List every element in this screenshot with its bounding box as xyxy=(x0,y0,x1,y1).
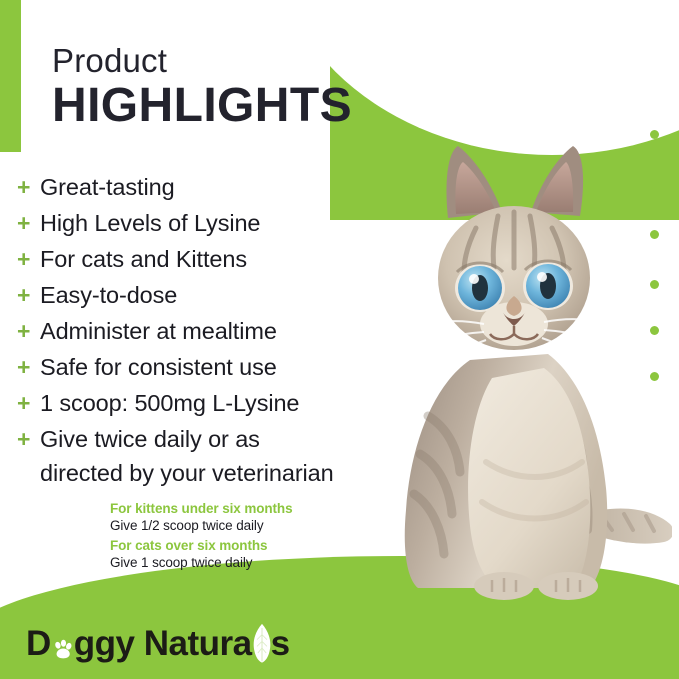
brand-name-part-1: D xyxy=(26,624,51,663)
plus-icon: + xyxy=(12,242,40,276)
plus-icon: + xyxy=(12,206,40,240)
list-item-label: High Levels of Lysine xyxy=(40,206,260,240)
title-kicker: Product xyxy=(52,44,352,79)
brand-logo: Dggy Naturas xyxy=(26,622,290,666)
dosing-instructions: For kittens under six months Give 1/2 sc… xyxy=(110,500,292,574)
paw-print-icon xyxy=(52,639,73,660)
brand-name: Dggy Naturas xyxy=(26,624,290,664)
plus-icon: + xyxy=(12,386,40,420)
plus-icon: + xyxy=(12,422,40,456)
cat-dose-line: Give 1 scoop twice daily xyxy=(110,554,292,572)
plus-icon: + xyxy=(12,278,40,312)
brand-name-part-2: ggy Natura xyxy=(74,624,252,663)
brand-name-part-3: s xyxy=(271,624,290,663)
title-main: HIGHLIGHTS xyxy=(52,81,352,131)
plus-icon: + xyxy=(12,350,40,384)
list-item-label: Safe for consistent use xyxy=(40,350,277,384)
list-item: + Administer at mealtime xyxy=(12,314,412,348)
list-item: + Great-tasting xyxy=(12,170,412,204)
list-item-label: Administer at mealtime xyxy=(40,314,277,348)
plus-icon: + xyxy=(12,314,40,348)
kitten-dose-title: For kittens under six months xyxy=(110,500,292,517)
highlights-list: + Great-tasting + High Levels of Lysine … xyxy=(12,170,412,492)
list-item: + Safe for consistent use xyxy=(12,350,412,384)
list-item-line-1: Give twice daily or as xyxy=(40,426,260,452)
kitten-dose-line: Give 1/2 scoop twice daily xyxy=(110,517,292,535)
page-title: Product HIGHLIGHTS xyxy=(52,44,352,131)
list-item: + Easy-to-dose xyxy=(12,278,412,312)
list-item-label: Give twice daily or as directed by your … xyxy=(40,422,334,490)
list-item: + Give twice daily or as directed by you… xyxy=(12,422,412,490)
plus-icon: + xyxy=(12,170,40,204)
list-item: + High Levels of Lysine xyxy=(12,206,412,240)
list-item-line-2: directed by your veterinarian xyxy=(40,456,334,490)
leaf-icon xyxy=(251,623,273,663)
cat-dose-title: For cats over six months xyxy=(110,537,292,554)
list-item: + For cats and Kittens xyxy=(12,242,412,276)
list-item-label: Easy-to-dose xyxy=(40,278,177,312)
list-item: + 1 scoop: 500mg L-Lysine xyxy=(12,386,412,420)
list-item-label: 1 scoop: 500mg L-Lysine xyxy=(40,386,299,420)
list-item-label: Great-tasting xyxy=(40,170,175,204)
list-item-label: For cats and Kittens xyxy=(40,242,247,276)
product-highlights-poster: Product HIGHLIGHTS + Great-tasting + Hig… xyxy=(0,0,679,679)
left-green-bar xyxy=(0,0,21,152)
